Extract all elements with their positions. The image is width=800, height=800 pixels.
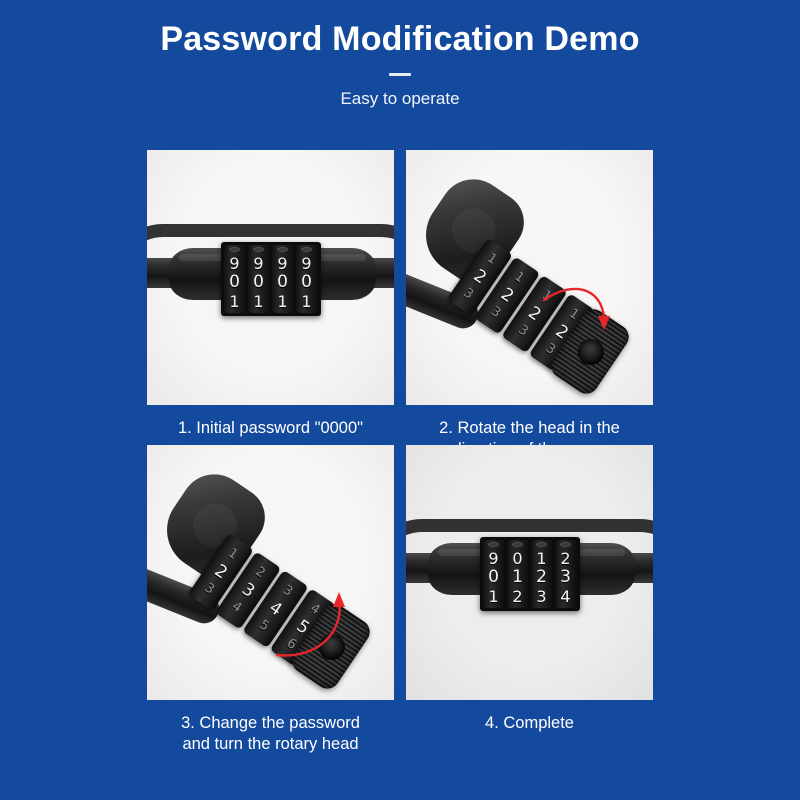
- dial-digit-bottom: 3: [536, 587, 546, 606]
- dial-digit-center: 0: [253, 273, 264, 292]
- header: Password Modification Demo Easy to opera…: [0, 0, 800, 107]
- dial-bank[interactable]: 9 0 1 9 0 1 9 0: [221, 242, 321, 316]
- step-2-photo: 1 2 3 1 2 3 1 2: [406, 150, 653, 405]
- angled-head-lock-2: 1 2 3 1 2 3 1 2: [406, 150, 653, 405]
- dial-digit-center: 0: [301, 273, 312, 292]
- step-4-photo: 9 0 1 0 1 2 1 2: [406, 445, 653, 700]
- page-subtitle: Easy to operate: [0, 76, 800, 107]
- dial-tick-icon: [253, 247, 264, 252]
- step-1-image-cell: 9 0 1 9 0 1 9 0: [147, 150, 394, 405]
- step-1-caption: 1. Initial password "0000": [147, 405, 394, 445]
- page-title: Password Modification Demo: [0, 0, 800, 56]
- dial-4[interactable]: 2 3 4: [555, 540, 577, 608]
- dial-digit-bottom: 1: [488, 587, 498, 606]
- step-4-caption: 4. Complete: [406, 700, 653, 740]
- rotation-arrow-icon: [406, 150, 653, 405]
- dial-digit-bottom: 1: [277, 292, 287, 311]
- horizontal-cable-lock-4: 9 0 1 0 1 2 1 2: [406, 445, 653, 700]
- step-3-caption: 3. Change the password and turn the rota…: [147, 700, 394, 740]
- dial-digit-center: 2: [536, 568, 547, 587]
- infographic-page: Password Modification Demo Easy to opera…: [0, 0, 800, 800]
- dial-digit-center: 3: [560, 568, 571, 587]
- dial-digit-top: 2: [560, 549, 570, 568]
- step-3-image-cell: 1 2 3 2 3 4 3 4: [147, 445, 394, 700]
- dial-tick-icon: [229, 247, 240, 252]
- dial-digit-top: 9: [277, 254, 287, 273]
- dial-digit-bottom: 4: [560, 587, 570, 606]
- dial-tick-icon: [301, 247, 312, 252]
- rotation-arrow-icon: [147, 445, 394, 700]
- dial-digit-top: 1: [536, 549, 546, 568]
- dial-4[interactable]: 9 0 1: [296, 245, 318, 313]
- dial-digit-center: 0: [488, 568, 499, 587]
- dial-2[interactable]: 9 0 1: [248, 245, 270, 313]
- dial-digit-top: 9: [488, 549, 498, 568]
- dial-bank[interactable]: 9 0 1 0 1 2 1 2: [480, 537, 580, 611]
- step-2-caption: 2. Rotate the head in the direction of t…: [406, 405, 653, 445]
- dial-tick-icon: [560, 542, 571, 547]
- dial-digit-top: 9: [229, 254, 239, 273]
- dial-tick-icon: [512, 542, 523, 547]
- dial-1[interactable]: 9 0 1: [483, 540, 505, 608]
- dial-tick-icon: [536, 542, 547, 547]
- step-2-image-cell: 1 2 3 1 2 3 1 2: [406, 150, 653, 405]
- steps-grid: 9 0 1 9 0 1 9 0: [147, 150, 653, 740]
- dial-tick-icon: [488, 542, 499, 547]
- step-1-photo: 9 0 1 9 0 1 9 0: [147, 150, 394, 405]
- dial-3[interactable]: 9 0 1: [272, 245, 294, 313]
- dial-1[interactable]: 9 0 1: [224, 245, 246, 313]
- dial-digit-center: 1: [512, 568, 523, 587]
- dial-digit-bottom: 1: [253, 292, 263, 311]
- step-4-image-cell: 9 0 1 0 1 2 1 2: [406, 445, 653, 700]
- step-3-photo: 1 2 3 2 3 4 3 4: [147, 445, 394, 700]
- dial-digit-top: 0: [512, 549, 522, 568]
- horizontal-cable-lock-1: 9 0 1 9 0 1 9 0: [147, 150, 394, 405]
- angled-head-lock-3: 1 2 3 2 3 4 3 4: [147, 445, 394, 700]
- dial-digit-bottom: 2: [512, 587, 522, 606]
- dial-digit-top: 9: [301, 254, 311, 273]
- dial-digit-bottom: 1: [229, 292, 239, 311]
- dial-digit-bottom: 1: [301, 292, 311, 311]
- dial-digit-top: 9: [253, 254, 263, 273]
- dial-3[interactable]: 1 2 3: [531, 540, 553, 608]
- dial-digit-center: 0: [229, 273, 240, 292]
- dial-tick-icon: [277, 247, 288, 252]
- dial-digit-center: 0: [277, 273, 288, 292]
- dial-2[interactable]: 0 1 2: [507, 540, 529, 608]
